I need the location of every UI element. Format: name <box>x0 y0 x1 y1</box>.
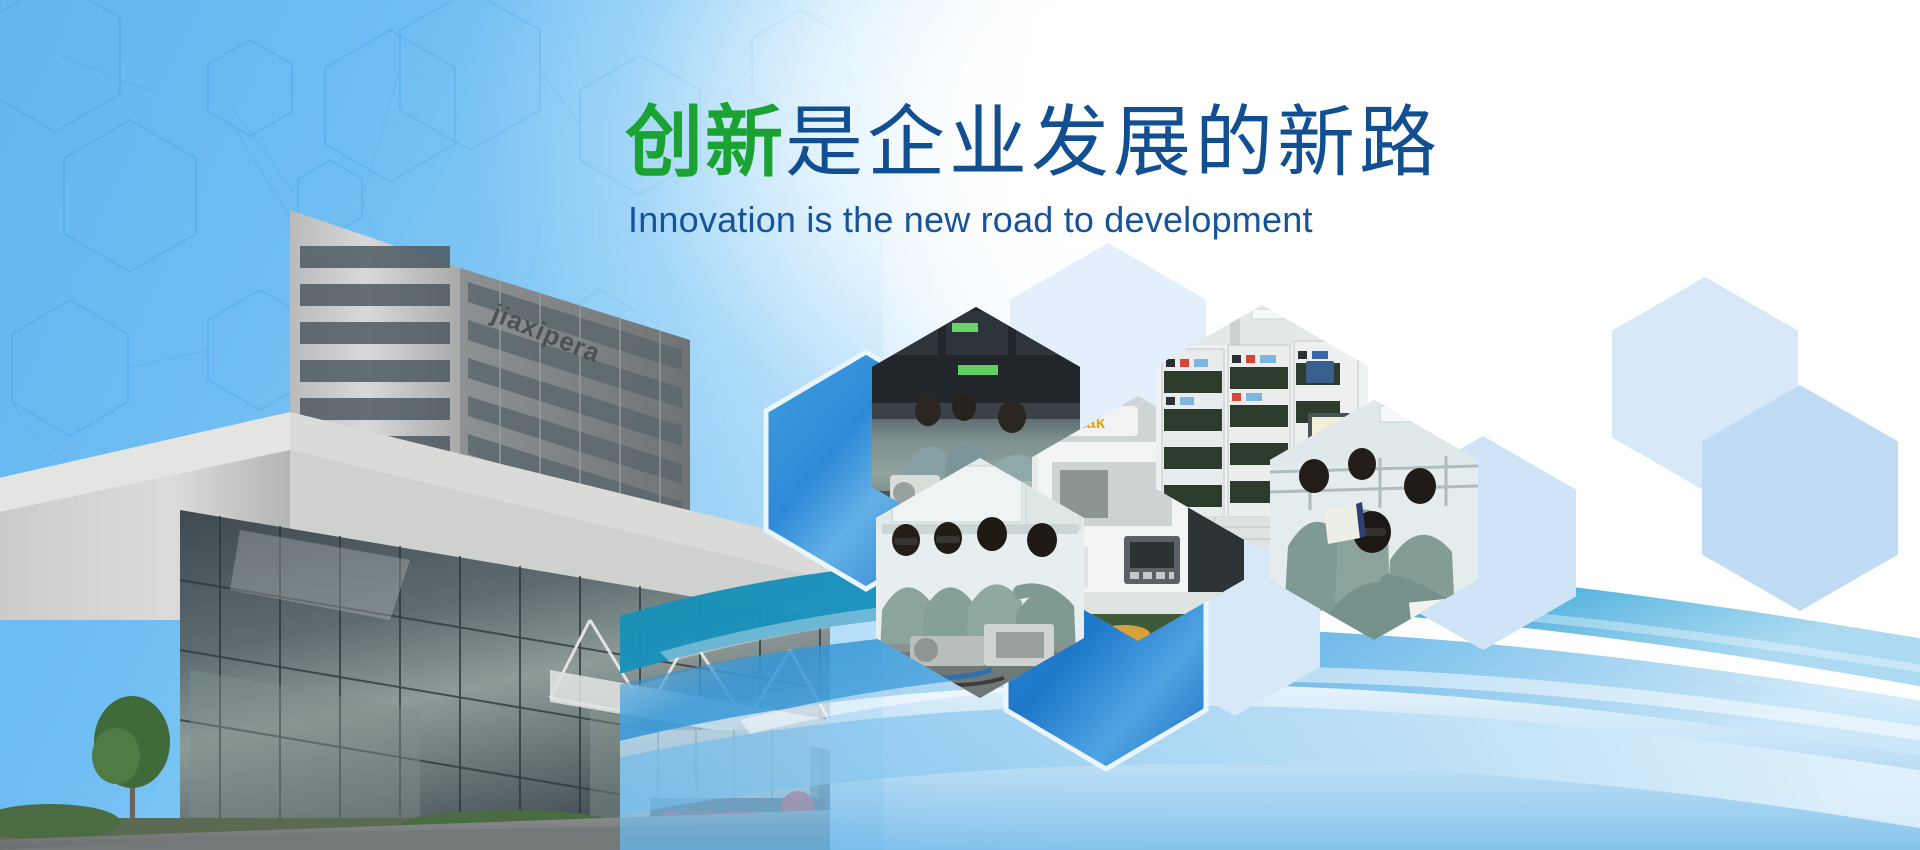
headline-rest: 是企业发展的新路 <box>785 98 1441 186</box>
promo-banner: jiaxipera <box>0 0 1920 850</box>
page-subtitle: Innovation is the new road to developmen… <box>628 199 1313 241</box>
page-title: 创新是企业发展的新路 <box>625 100 1441 184</box>
headline-accent: 创新 <box>625 98 785 186</box>
